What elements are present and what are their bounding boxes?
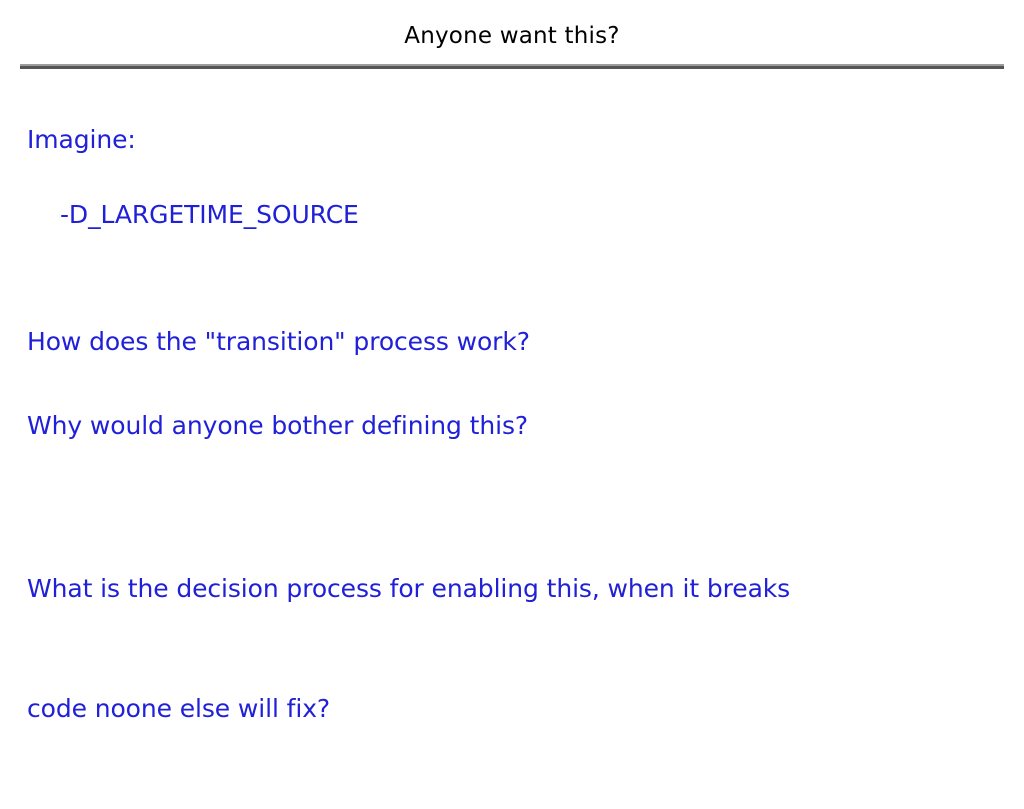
slide: Anyone want this? Imagine: -D_LARGETIME_… [0,0,1024,768]
question-decision-process-line-1: What is the decision process for enablin… [27,569,887,609]
question-transition-process: How does the "transition" process work? [27,322,530,362]
divider-band-dark [20,66,1004,69]
question-why-define: Why would anyone bother defining this? [27,406,528,446]
intro-label: Imagine: [27,120,136,160]
page-title: Anyone want this? [0,22,1024,50]
title-divider [20,64,1004,69]
define-flag-text: -D_LARGETIME_SOURCE [60,195,359,235]
question-decision-process-line-2: code noone else will fix? [27,689,887,729]
question-decision-process: What is the decision process for enablin… [27,489,887,809]
